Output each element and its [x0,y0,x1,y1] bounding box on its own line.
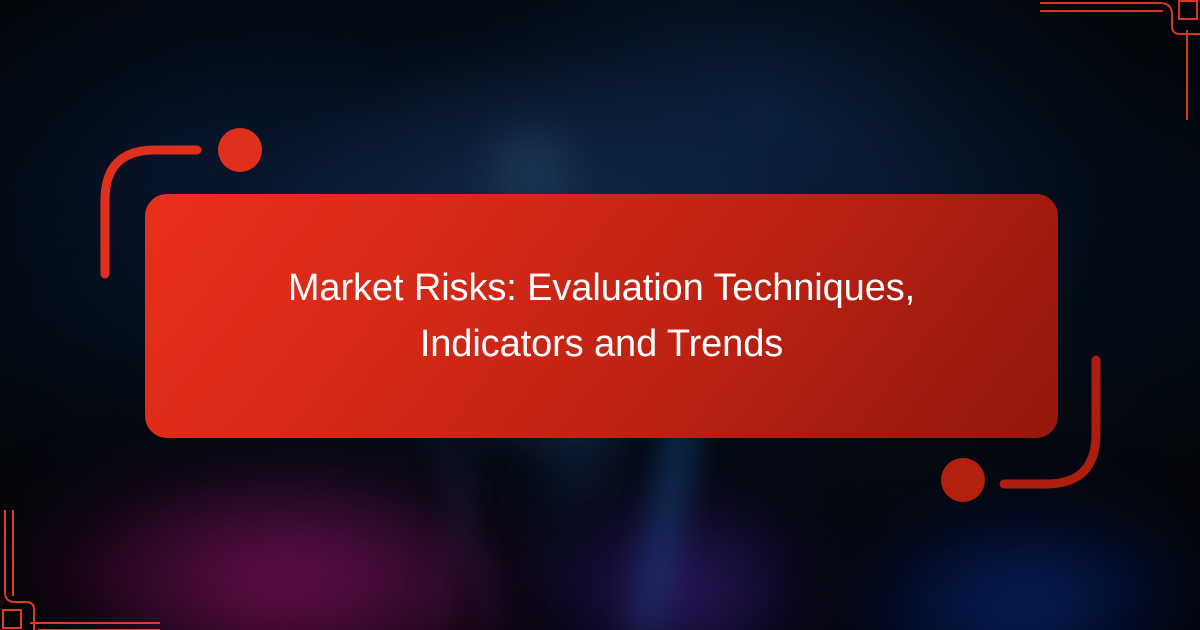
page-title: Market Risks: Evaluation Techniques, Ind… [288,260,915,372]
share-card-canvas: Market Risks: Evaluation Techniques, Ind… [0,0,1200,630]
circle-dot-icon [941,458,985,502]
circle-dot-icon [218,128,262,172]
title-card: Market Risks: Evaluation Techniques, Ind… [145,194,1058,438]
